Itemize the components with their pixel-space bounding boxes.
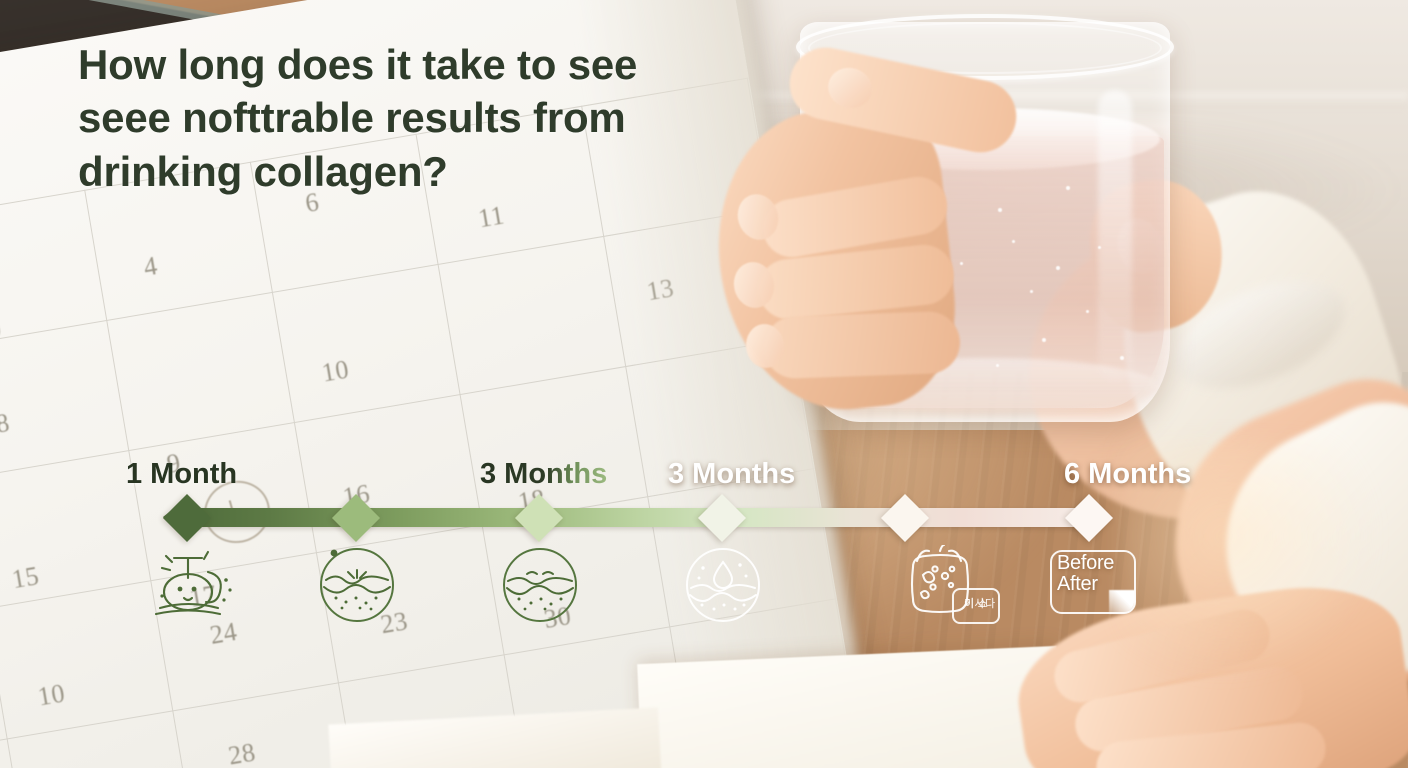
before-after-text: Before After [1057, 553, 1133, 594]
skin-wave-circle-icon [503, 548, 577, 622]
timeline-node-2[interactable] [332, 494, 380, 542]
infographic-canvas: NT 20 4 6 [0, 0, 1408, 768]
timeline-label-3-months-b: 3 Months [668, 458, 795, 491]
graphic-overlay: How long does it take to see seee nofttr… [0, 0, 1408, 768]
timeline-node-4[interactable] [698, 494, 746, 542]
blemish-note-tag: 이 쇼 기사다 [952, 588, 1000, 624]
tag-line-2: 기사다 [964, 598, 1002, 612]
timeline-label-6-months: 6 Months [1064, 458, 1191, 491]
results-timeline: 1 Month 3 Months 3 Months 6 Months [0, 0, 1408, 768]
timeline-node-6-months[interactable] [1065, 494, 1113, 542]
timeline-node-3-months-a[interactable] [515, 494, 563, 542]
before-label: Before [1057, 553, 1133, 574]
timeline-label-3-months-a: 3 Months [480, 458, 607, 491]
skin-texture-circle-icon [320, 548, 394, 622]
sprout-face-doodle-icon [146, 548, 238, 624]
timeline-label-1-month: 1 Month [126, 458, 237, 491]
timeline-track [178, 508, 1090, 527]
hydration-droplet-icon [686, 548, 760, 622]
timeline-node-5[interactable] [881, 494, 929, 542]
